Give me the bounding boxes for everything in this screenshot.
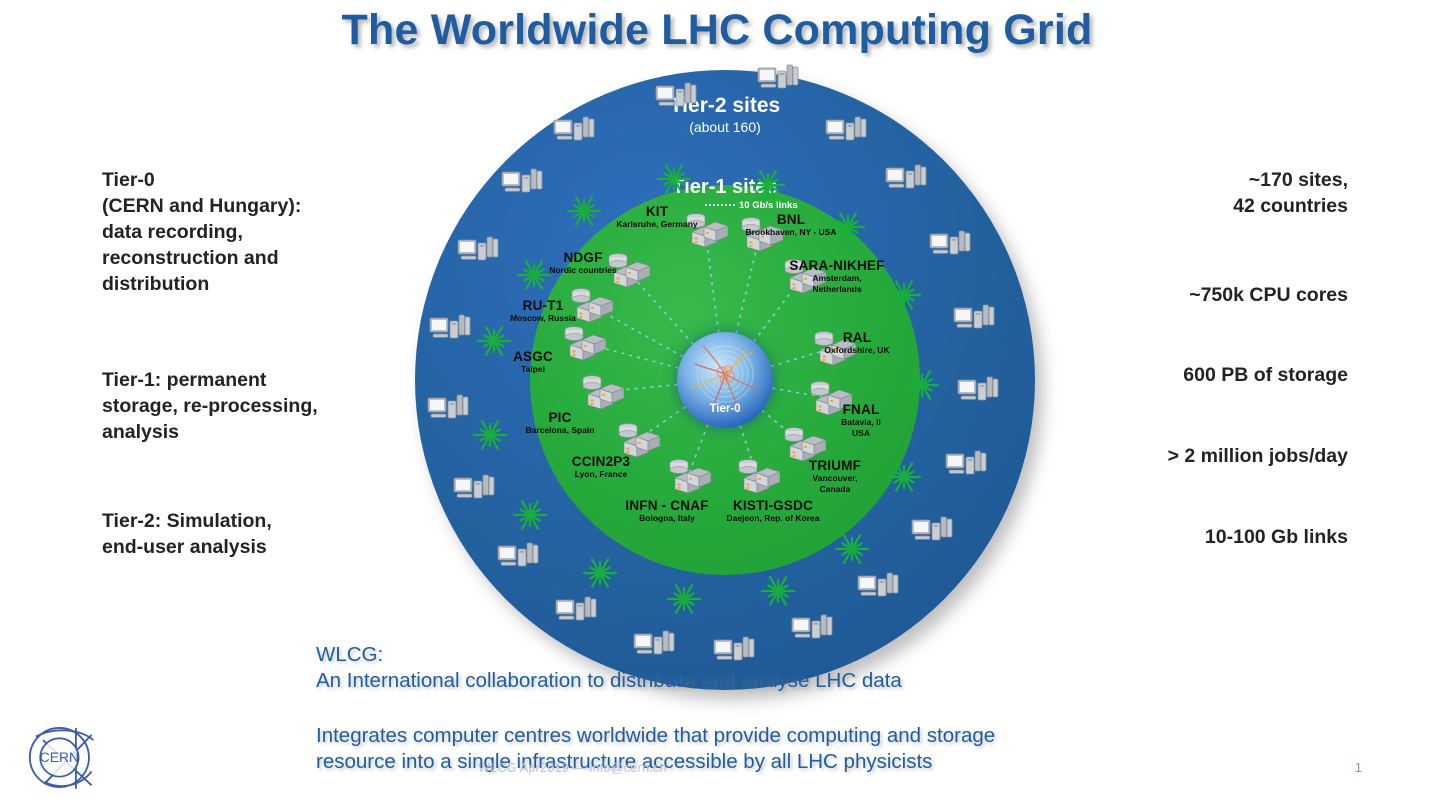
stat-storage: 600 PB of storage (1183, 362, 1348, 388)
tier2-computer-icon (427, 392, 469, 424)
network-burst (887, 278, 921, 312)
tier2-computer-icon (945, 448, 987, 480)
tier2-computer-icon (929, 228, 971, 260)
tier1-site-name: KISTI-GSDC (718, 498, 828, 513)
tier1-site-label: INFN - CNAFBologna, Italy (612, 498, 722, 524)
tier2-computer-icon (953, 302, 995, 334)
page-title: The Worldwide LHC Computing Grid (0, 6, 1434, 55)
cern-logo: CERN (18, 714, 106, 794)
tier1-site-name: NDGF (528, 250, 638, 265)
tier1-site-label: NDGFNordic countries (528, 250, 638, 276)
tier1-site-name: RAL (802, 330, 912, 345)
tier2-computer-icon (857, 570, 899, 602)
network-burst (473, 418, 507, 452)
tier1-site-name: SARA-NIKHEF (782, 258, 892, 273)
network-burst-icon (887, 460, 921, 494)
tier2-node (555, 594, 597, 626)
network-burst (761, 574, 795, 608)
tier2-node (757, 62, 799, 94)
network-burst-icon (513, 498, 547, 532)
network-burst-icon (751, 168, 785, 202)
tier1-site-name: TRIUMF (780, 458, 890, 473)
tier2-computer-icon (757, 62, 799, 94)
tier2-computer-icon (957, 374, 999, 406)
tier2-description: Tier-2: Simulation, end-user analysis (102, 508, 272, 560)
tier0-label: Tier-0 (677, 403, 773, 415)
tier2-node (429, 312, 471, 344)
tier1-site-name: ASGC (478, 349, 588, 364)
wlcg-summary-paragraph-1: WLCG: An International collaboration to … (316, 642, 1326, 694)
tier1-site-location: Bologna, Italy (612, 513, 722, 524)
network-burst-icon (835, 532, 869, 566)
tier0-core: Tier-0 (677, 332, 773, 428)
tier2-node (825, 114, 867, 146)
tier1-site-location: Vancouver, Canada (780, 473, 890, 494)
tier2-computer-icon (453, 472, 495, 504)
tier2-computer-icon (911, 514, 953, 546)
tier2-node (911, 514, 953, 546)
tier1-site-name: PIC (505, 410, 615, 425)
tier1-site-location: Amsterdam, Netherlands (782, 273, 892, 294)
page-number: 1 (1355, 760, 1362, 775)
tier1-site-location: Nordic countries (528, 265, 638, 276)
tier1-site-location: Batavia, Il USA (806, 417, 916, 438)
tier1-site-name: KIT (602, 204, 712, 219)
server-cluster-icon (734, 456, 780, 496)
tier1-site-label: RU-T1Moscow, Russia (488, 298, 598, 324)
tier1-site-label: ASGCTaipei (478, 349, 588, 375)
tier1-server-icon (578, 372, 624, 412)
tier1-site-label: PICBarcelona, Spain (505, 410, 615, 436)
tier2-computer-icon (825, 114, 867, 146)
network-burst (657, 162, 691, 196)
tier2-node (655, 80, 697, 112)
network-burst-icon (887, 278, 921, 312)
tier1-site-location: Brookhaven, NY - USA (736, 227, 846, 238)
tier2-node (929, 228, 971, 260)
tier2-node (953, 302, 995, 334)
network-burst (583, 556, 617, 590)
tier1-site-label: TRIUMFVancouver, Canada (780, 458, 890, 494)
network-burst-icon (761, 574, 795, 608)
tier2-node (791, 612, 833, 644)
stat-sites: ~170 sites, 42 countries (1233, 167, 1348, 219)
tier2-computer-icon (429, 312, 471, 344)
tier2-node (957, 374, 999, 406)
slide-canvas: The Worldwide LHC Computing Grid Tier-0 … (0, 0, 1434, 804)
tier2-computer-icon (457, 234, 499, 266)
network-burst (513, 498, 547, 532)
tier1-site-label: FNALBatavia, Il USA (806, 402, 916, 438)
wlcg-tier-diagram: Tier-2 sites (about 160) Tier-1 sites 10… (405, 62, 1045, 702)
network-burst (567, 194, 601, 228)
network-burst (835, 532, 869, 566)
tier1-site-name: BNL (736, 212, 846, 227)
tier2-node (885, 162, 927, 194)
tier1-site-label: RALOxfordshire, UK (802, 330, 912, 356)
tier2-node (501, 166, 543, 198)
network-burst-icon (473, 418, 507, 452)
tier1-site-label: CCIN2P3Lyon, France (546, 454, 656, 480)
tier0-description: Tier-0 (CERN and Hungary): data recordin… (102, 167, 301, 297)
tier1-site-location: Barcelona, Spain (505, 425, 615, 436)
footer-watermark: WLCG Apr2019 — info@cern.ch (478, 761, 667, 775)
tier1-site-location: Taipei (478, 364, 588, 375)
cern-logo-text: CERN (40, 749, 79, 765)
network-burst-icon (667, 582, 701, 616)
tier1-site-label: BNLBrookhaven, NY - USA (736, 212, 846, 238)
tier2-computer-icon (885, 162, 927, 194)
tier1-description: Tier-1: permanent storage, re-processing… (102, 367, 318, 445)
tier2-computer-icon (497, 540, 539, 572)
tier1-site-name: FNAL (806, 402, 916, 417)
tier1-site-location: Daejeon, Rep. of Korea (718, 513, 828, 524)
network-burst-icon (567, 194, 601, 228)
tier1-server-icon (734, 456, 780, 496)
tier1-site-name: RU-T1 (488, 298, 598, 313)
network-burst (667, 582, 701, 616)
tier2-node (553, 114, 595, 146)
network-burst-icon (583, 556, 617, 590)
stat-cpu: ~750k CPU cores (1189, 282, 1348, 308)
tier2-node (497, 540, 539, 572)
tier1-site-label: KITKarlsruhe, Germany (602, 204, 712, 230)
network-burst (887, 460, 921, 494)
server-cluster-icon (665, 456, 711, 496)
tier1-site-name: CCIN2P3 (546, 454, 656, 469)
tier2-node (857, 570, 899, 602)
tier1-site-label: SARA-NIKHEFAmsterdam, Netherlands (782, 258, 892, 294)
tier1-server-icon (665, 456, 711, 496)
network-burst (905, 368, 939, 402)
tier2-computer-icon (555, 594, 597, 626)
tier2-node (453, 472, 495, 504)
tier1-site-location: Karlsruhe, Germany (602, 219, 712, 230)
tier2-computer-icon (553, 114, 595, 146)
tier1-site-location: Moscow, Russia (488, 313, 598, 324)
tier1-site-label: KISTI-GSDCDaejeon, Rep. of Korea (718, 498, 828, 524)
stat-links: 10-100 Gb links (1205, 524, 1348, 550)
tier1-site-name: INFN - CNAF (612, 498, 722, 513)
tier2-computer-icon (501, 166, 543, 198)
tier1-site-location: Lyon, France (546, 469, 656, 480)
network-burst-icon (905, 368, 939, 402)
tier2-node (457, 234, 499, 266)
tier1-site-location: Oxfordshire, UK (802, 345, 912, 356)
tier2-computer-icon (791, 612, 833, 644)
wlcg-summary-paragraph-2: Integrates computer centres worldwide th… (316, 723, 1326, 775)
stat-jobs: > 2 million jobs/day (1168, 443, 1348, 469)
tier2-computer-icon (655, 80, 697, 112)
tier2-node (427, 392, 469, 424)
network-burst-icon (657, 162, 691, 196)
tier2-node (945, 448, 987, 480)
server-cluster-icon (578, 372, 624, 412)
network-burst (751, 168, 785, 202)
